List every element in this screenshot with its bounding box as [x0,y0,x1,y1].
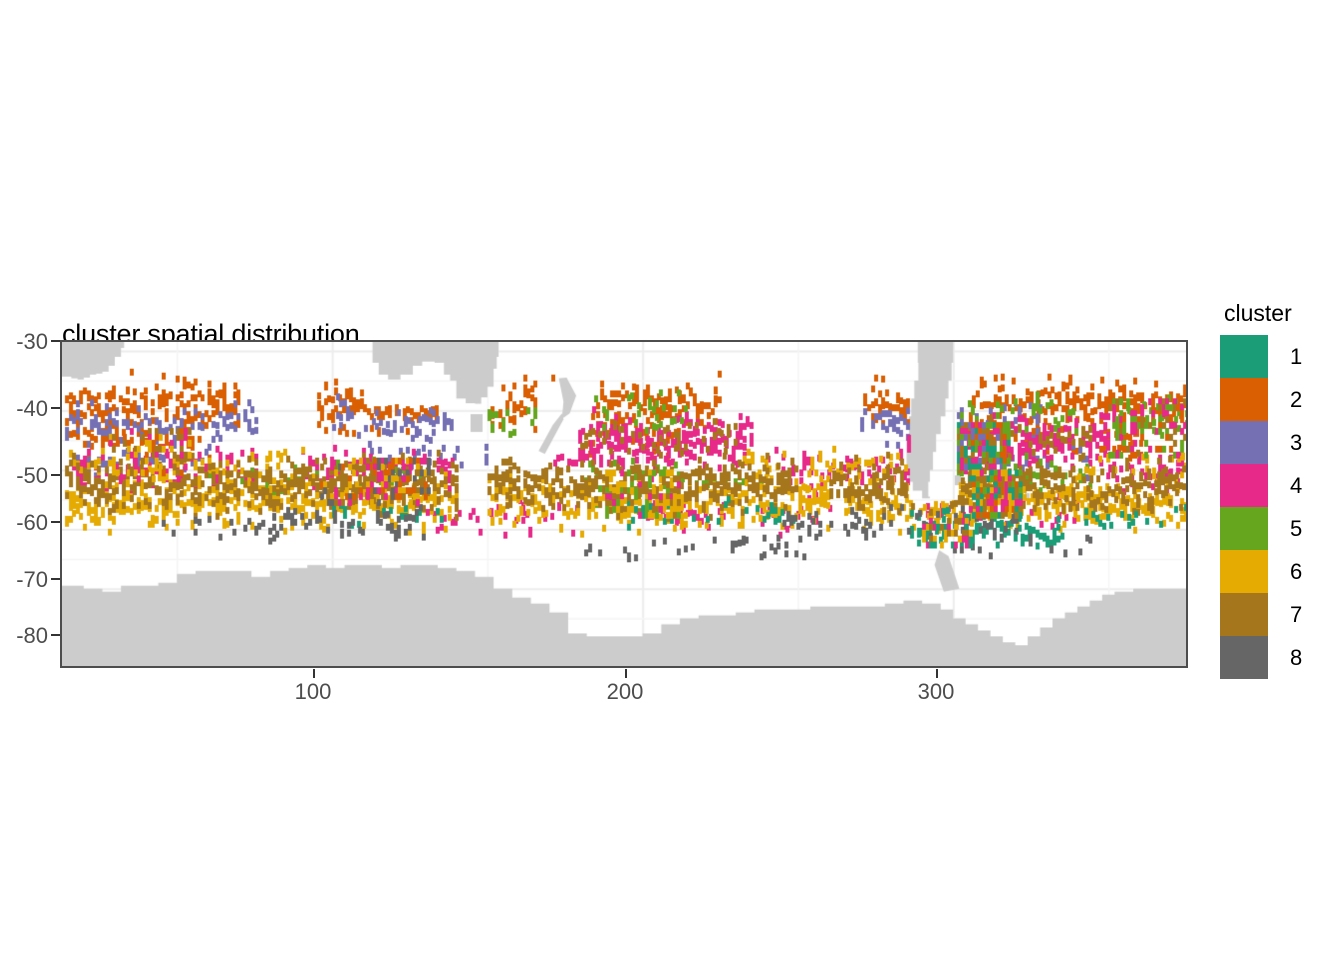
legend-item: 7 [1220,593,1340,636]
legend-title: cluster [1224,300,1340,326]
legend-swatch-icon [1220,507,1268,550]
y-tick-label: -70 [0,567,48,593]
y-tick-label: -60 [0,510,48,536]
legend-item: 4 [1220,464,1340,507]
legend-item: 2 [1220,378,1340,421]
x-tick-mark [625,669,627,678]
legend-swatch-icon [1220,335,1268,378]
map-panel [60,340,1188,668]
x-tick-label: 300 [896,679,976,705]
legend-label: 7 [1290,604,1302,626]
legend-item: 3 [1220,421,1340,464]
legend-label: 1 [1290,346,1302,368]
y-tick-mark [51,474,60,476]
x-tick-mark [936,669,938,678]
legend-item: 1 [1220,335,1340,378]
y-tick-mark [51,578,60,580]
legend-label: 8 [1290,647,1302,669]
legend-swatch-icon [1220,550,1268,593]
legend-swatch-icon [1220,421,1268,464]
y-tick-mark [51,340,60,342]
legend-label: 3 [1290,432,1302,454]
y-tick-label: -40 [0,396,48,422]
legend-items: 12345678 [1220,335,1340,679]
y-tick-label: -80 [0,623,48,649]
plot-root: cluster spatial distribution type = base… [0,0,1344,960]
legend-label: 2 [1290,389,1302,411]
legend-swatch-icon [1220,593,1268,636]
y-tick-mark [51,521,60,523]
legend-swatch-icon [1220,464,1268,507]
y-tick-label: -30 [0,329,48,355]
legend-label: 5 [1290,518,1302,540]
legend-item: 6 [1220,550,1340,593]
y-tick-label: -50 [0,463,48,489]
legend-item: 5 [1220,507,1340,550]
legend-item: 8 [1220,636,1340,679]
legend-label: 6 [1290,561,1302,583]
x-tick-label: 200 [585,679,665,705]
legend: cluster 12345678 [1220,300,1340,679]
x-tick-label: 100 [273,679,353,705]
x-tick-mark [313,669,315,678]
legend-label: 4 [1290,475,1302,497]
legend-swatch-icon [1220,636,1268,679]
cluster-map-canvas [62,342,1186,666]
y-tick-mark [51,407,60,409]
legend-swatch-icon [1220,378,1268,421]
y-tick-mark [51,634,60,636]
